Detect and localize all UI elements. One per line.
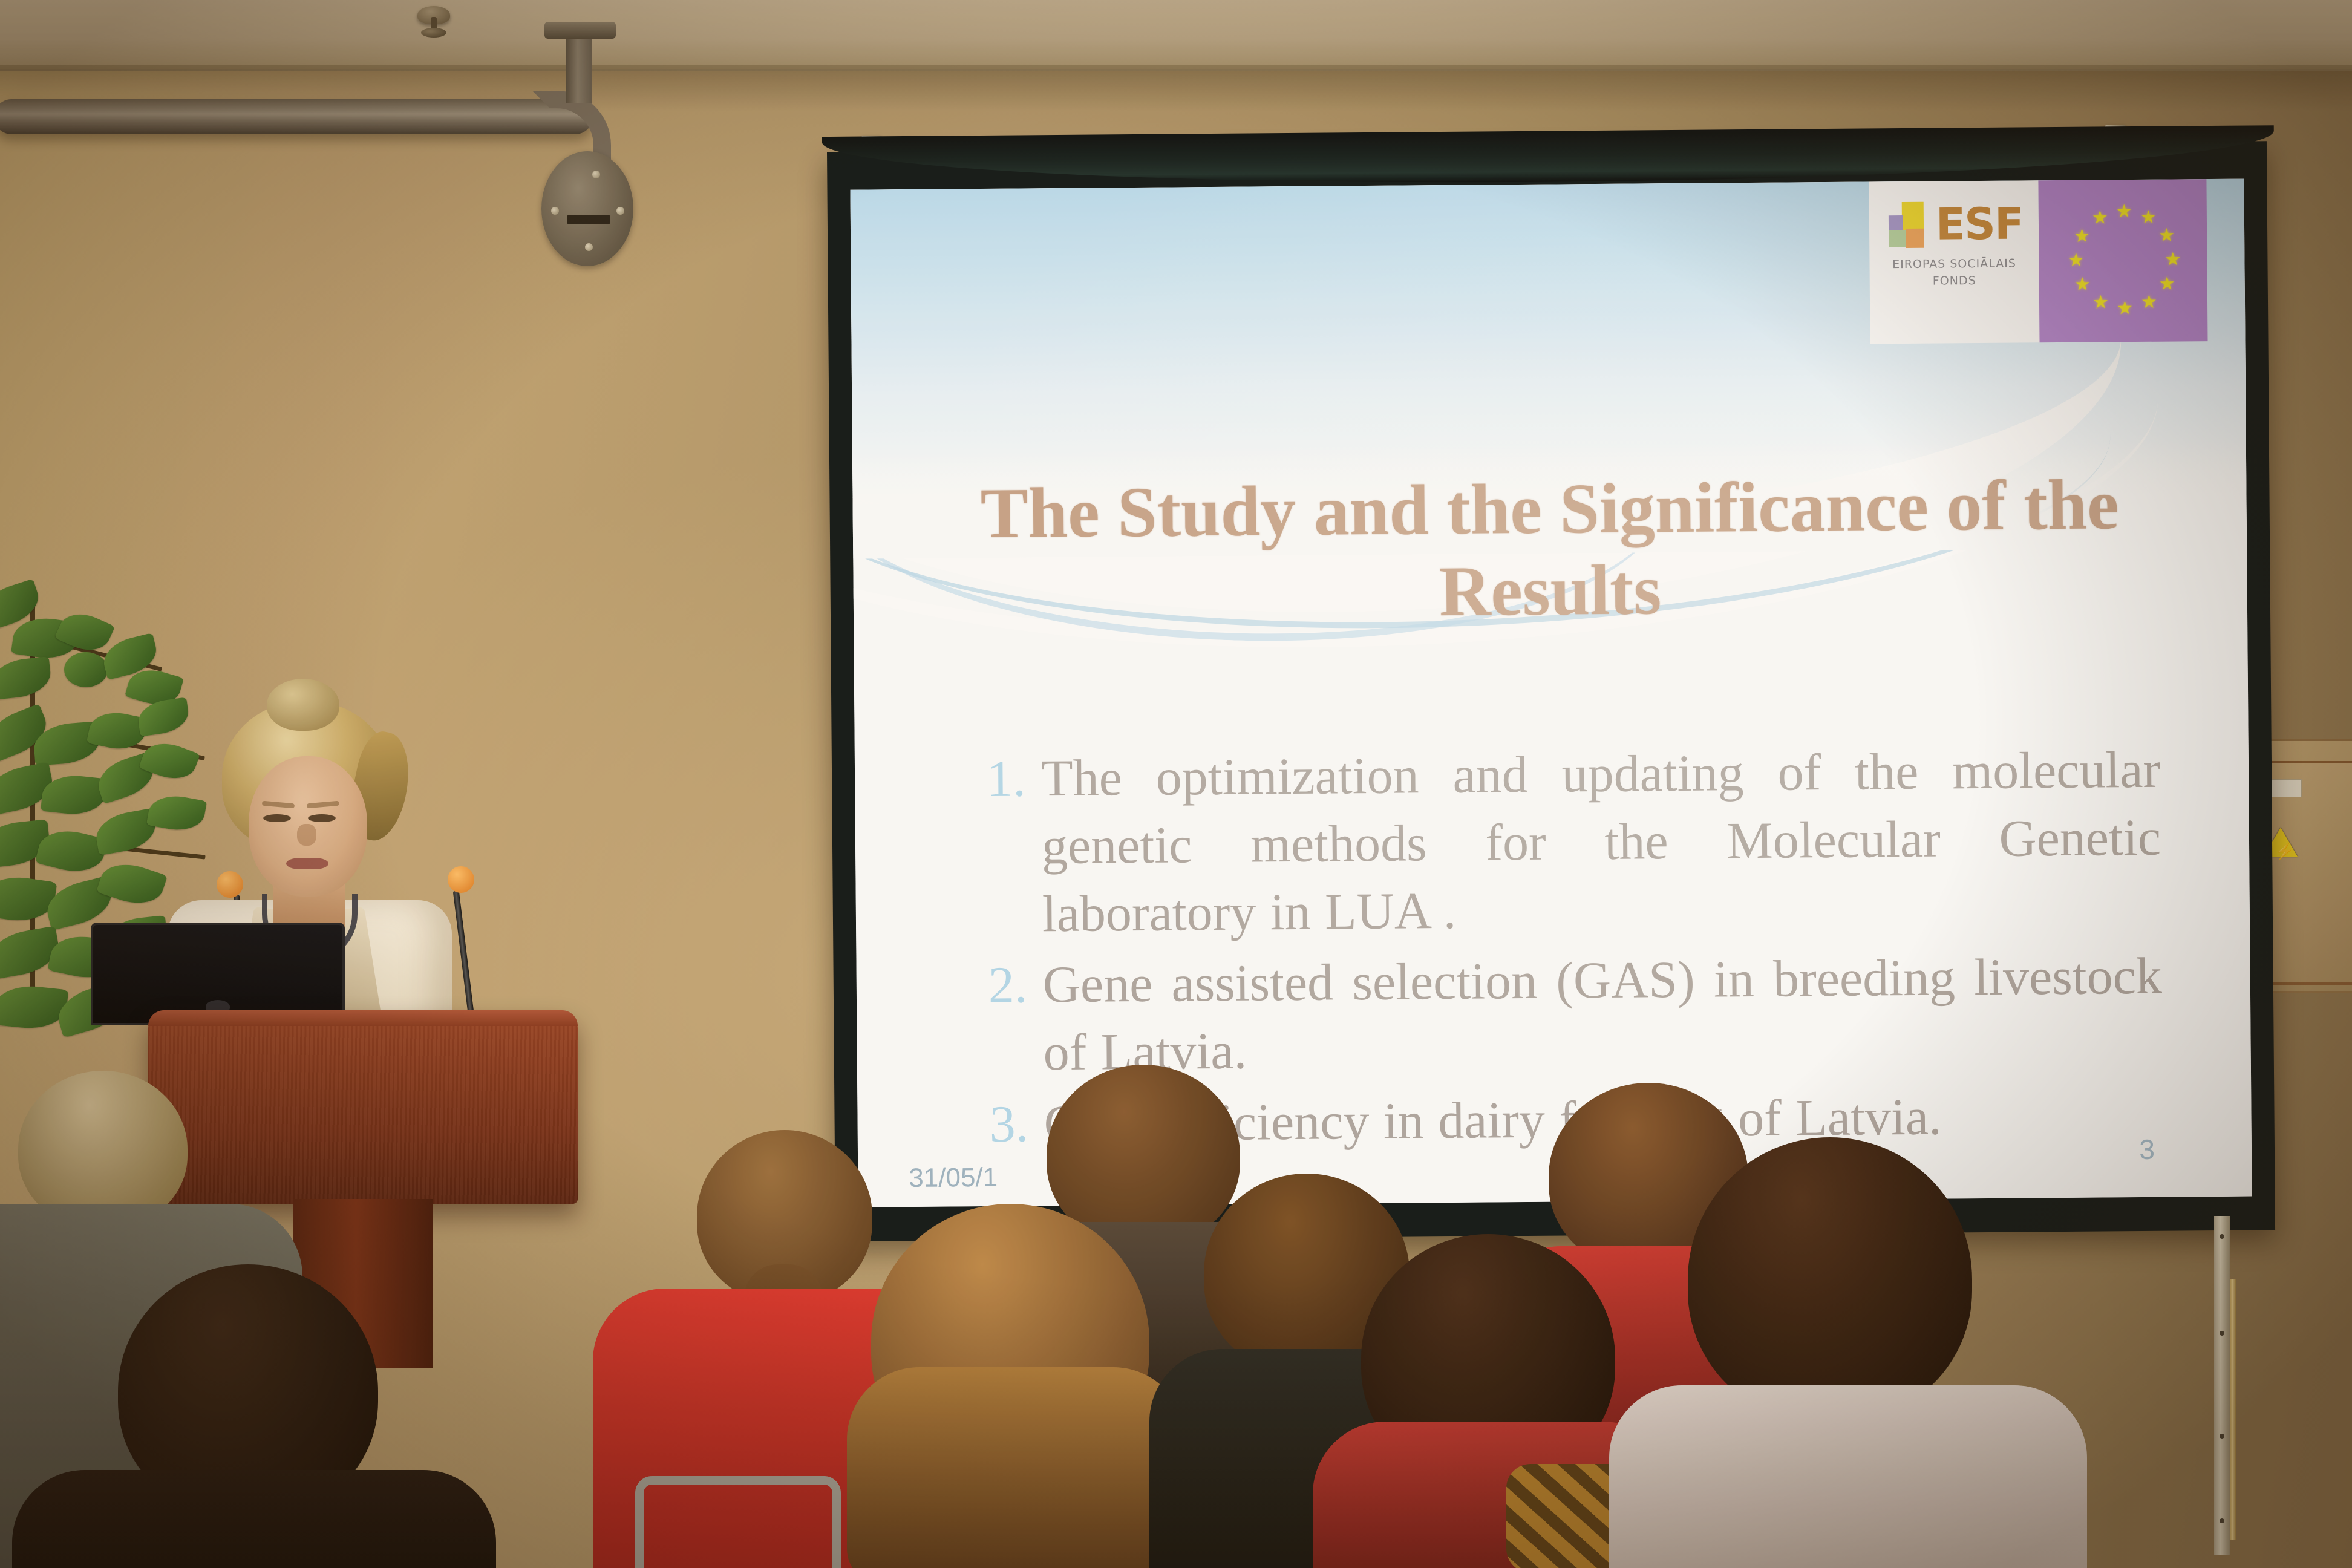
esf-subtitle-line2: FONDS — [1892, 272, 2016, 290]
esf-wordmark: ESF — [1936, 206, 2024, 243]
pipe-label-tag — [567, 215, 610, 224]
audience-long-hair — [847, 1367, 1186, 1568]
european-union-flag-icon: ★ ★ ★ ★ ★ ★ ★ ★ ★ ★ ★ ★ — [2038, 179, 2207, 342]
audience-chair — [635, 1476, 841, 1568]
audience-shoulders — [12, 1470, 496, 1568]
presentation-slide: ESF EIROPAS SOCIĀLAIS FONDS ★ ★ ★ ★ ★ — [850, 179, 2252, 1207]
podium-front-panel — [148, 1010, 578, 1204]
esf-squares-icon — [1885, 202, 1933, 249]
sprinkler-icon — [417, 6, 450, 24]
screen-stand-leg-right — [2214, 1216, 2230, 1555]
esf-subtitle: EIROPAS SOCIĀLAIS FONDS — [1892, 256, 2016, 290]
esf-logo: ESF EIROPAS SOCIĀLAIS FONDS — [1869, 180, 2039, 344]
presenter-eye-right — [308, 814, 336, 822]
pipe-riser — [566, 28, 592, 103]
presenter-eye-left — [263, 814, 291, 822]
screen-stand-strip — [2230, 1279, 2236, 1540]
pipe-ceiling-flange — [544, 22, 616, 39]
list-item-text: Gene assisted selection (GAS) in breedin… — [1042, 942, 2163, 1086]
slide-title: The Study and the Significance of the Re… — [907, 463, 2193, 636]
conference-photo-scene: ⚡ — [0, 0, 2352, 1568]
projection-screen: ESF EIROPAS SOCIĀLAIS FONDS ★ ★ ★ ★ ★ — [827, 141, 2275, 1241]
pipe-wall-mounting-plate — [541, 151, 633, 266]
slide-title-line-1: The Study and the Significance of the — [907, 463, 2192, 555]
list-item: 1. The optimization and updating of the … — [987, 736, 2162, 949]
slide-date-footer: 31/05/1 — [909, 1163, 998, 1194]
lightning-bolt-icon: ⚡ — [2275, 842, 2294, 861]
audience-shoulders — [1609, 1385, 2087, 1568]
audience-head — [1688, 1137, 1972, 1422]
list-item-number: 1. — [987, 745, 1042, 813]
list-item-text: The optimization and updating of the mol… — [1041, 736, 2162, 948]
slide-page-number: 3 — [2139, 1133, 2155, 1166]
presenter-nose — [297, 824, 316, 846]
audience-head — [1047, 1065, 1240, 1246]
ceiling-pipe-rail — [0, 99, 593, 134]
presenter-mouth — [286, 858, 328, 869]
presenter-hair-bun — [267, 679, 339, 731]
slide-logo-block: ESF EIROPAS SOCIĀLAIS FONDS ★ ★ ★ ★ ★ — [1869, 179, 2207, 344]
list-item: 2. Gene assisted selection (GAS) in bree… — [988, 942, 2163, 1087]
list-item-number: 2. — [988, 952, 1043, 1020]
projected-slide-surface: ESF EIROPAS SOCIĀLAIS FONDS ★ ★ ★ ★ ★ — [850, 179, 2252, 1207]
ceiling — [0, 0, 2352, 71]
list-item-number: 3. — [989, 1090, 1044, 1158]
slide-title-line-2: Results — [907, 545, 2193, 636]
esf-subtitle-line1: EIROPAS SOCIĀLAIS — [1892, 256, 2016, 273]
podium-top-lip — [148, 1010, 578, 1026]
